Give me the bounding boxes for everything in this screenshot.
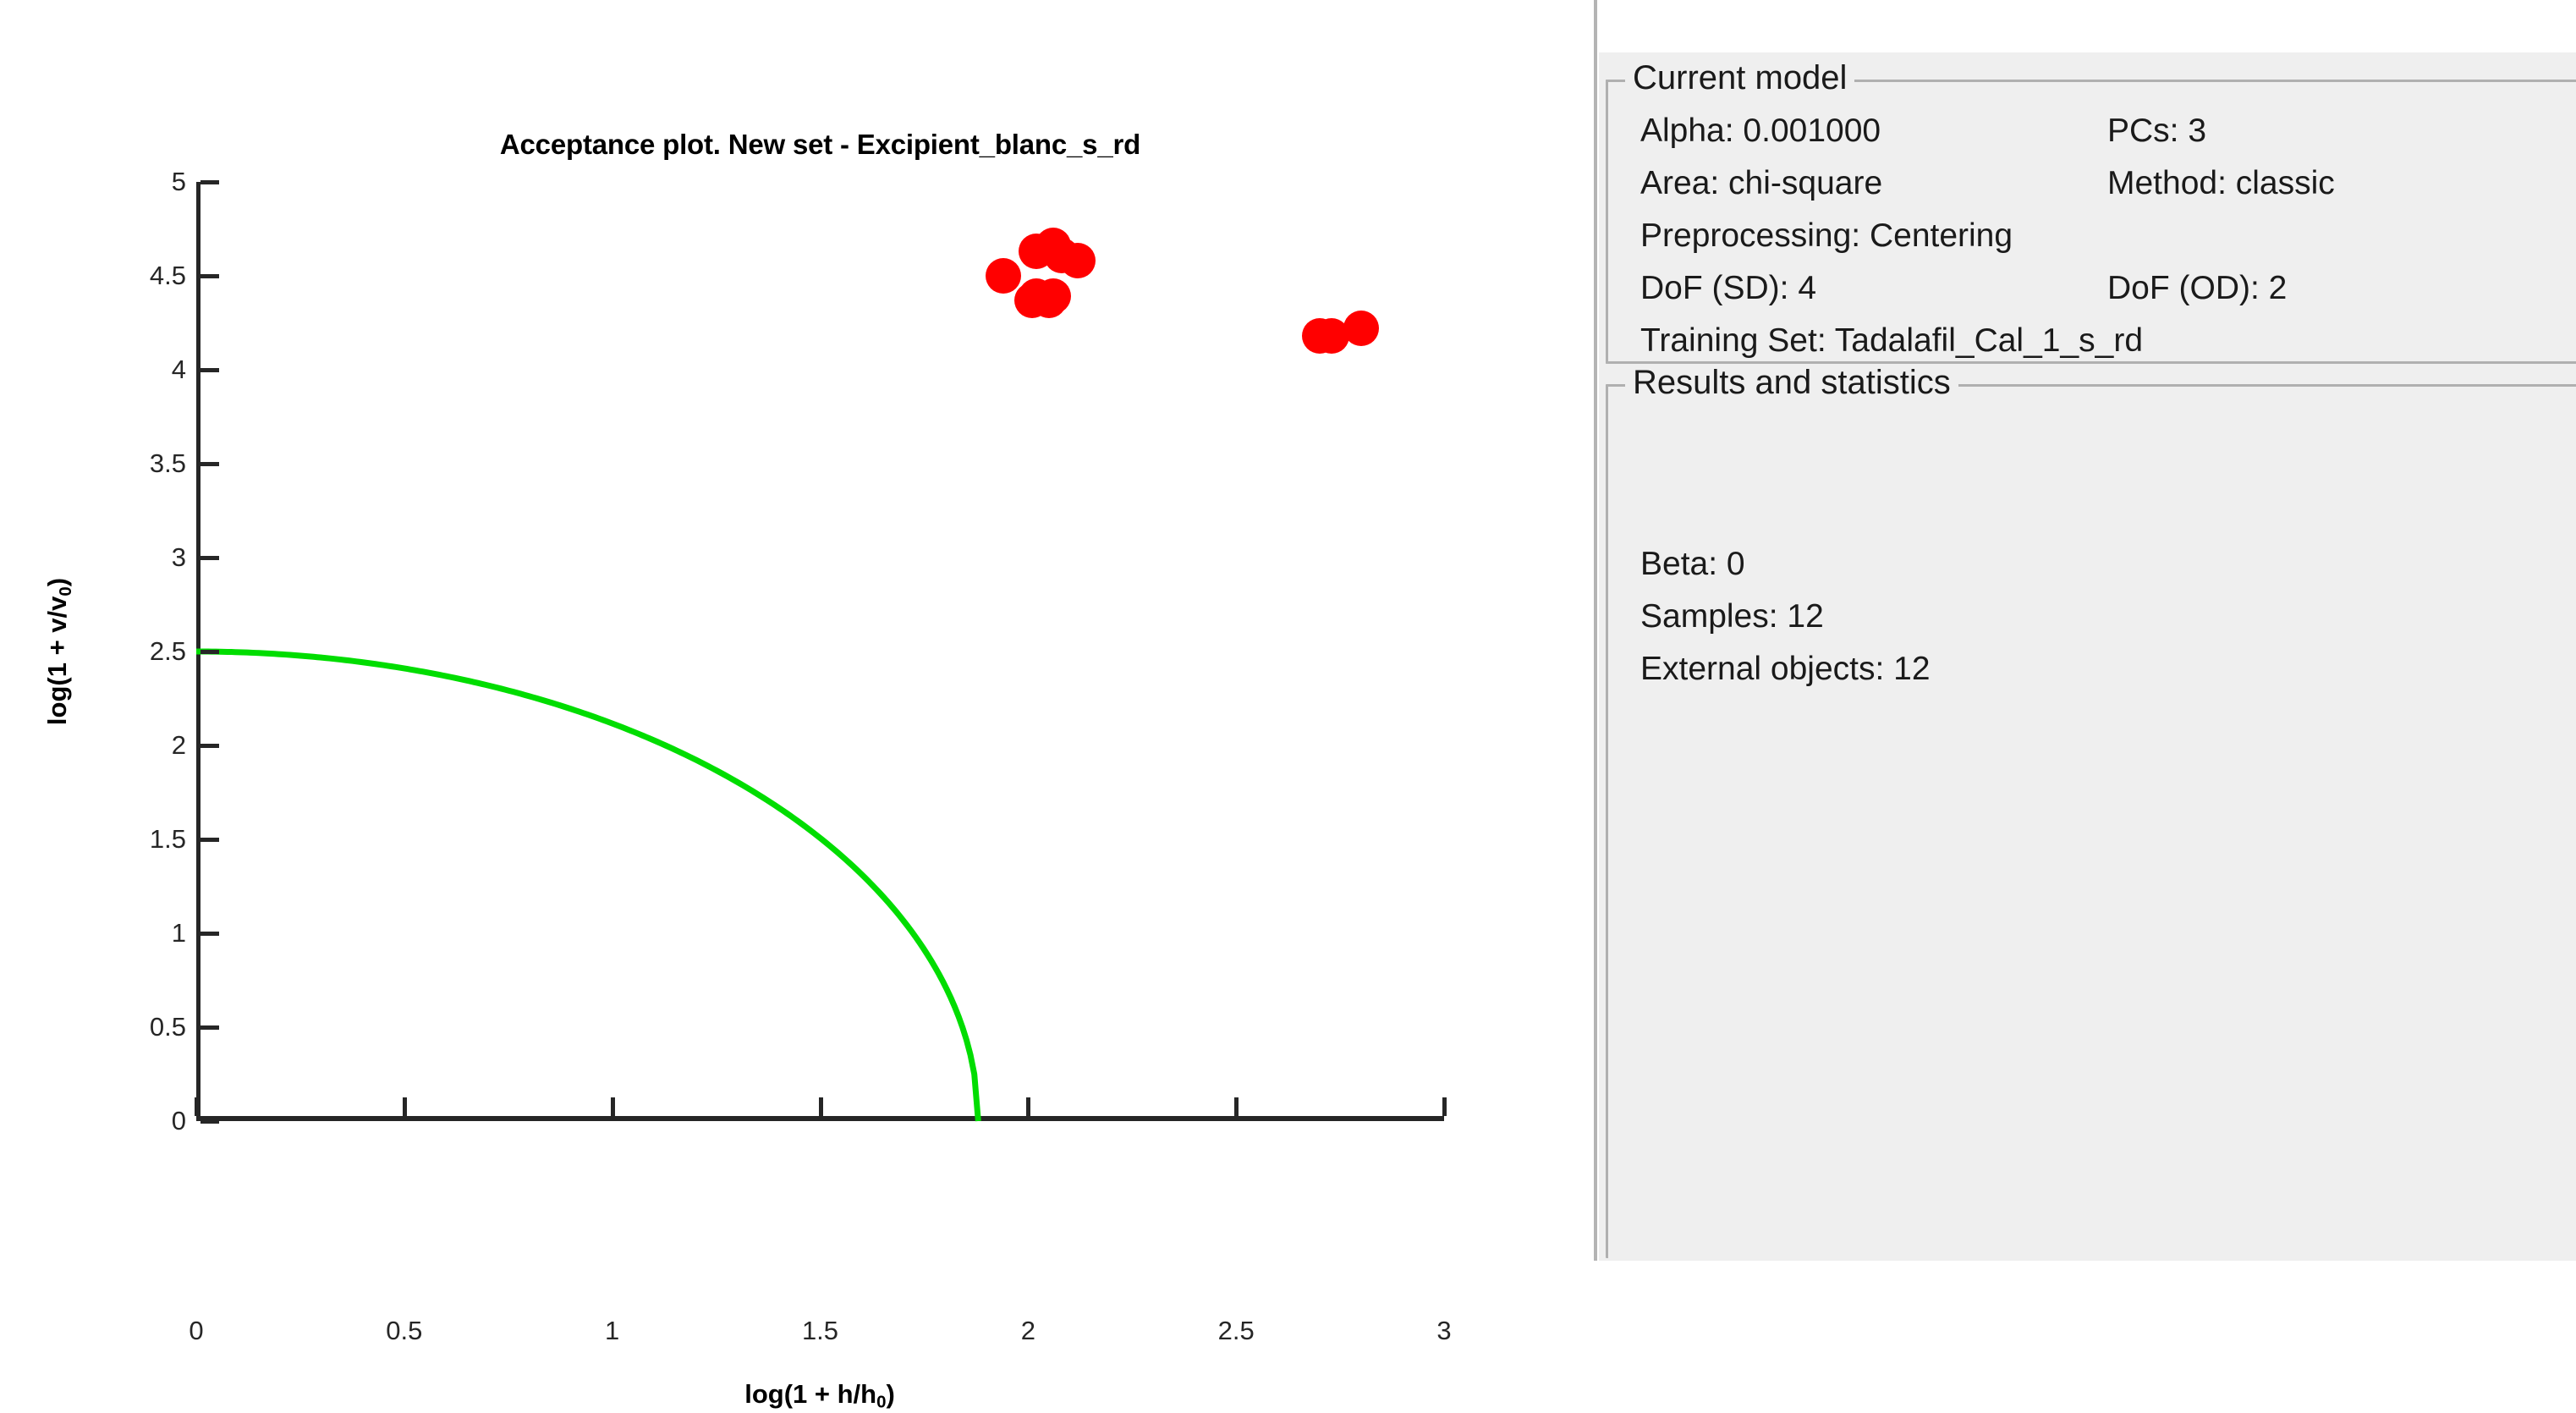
scatter-point: [1031, 283, 1067, 318]
y-tick: [200, 556, 219, 560]
x-tick-label: 2.5: [1218, 1316, 1255, 1346]
results-statistics-title: Results and statistics: [1625, 364, 1958, 402]
results-statistics-groupbox: Results and statistics Beta: 0Samples: 1…: [1606, 384, 2576, 1258]
page-title: Acceptance plot. New set - Excipient_bla…: [196, 129, 1444, 161]
x-tick-label: 1.5: [802, 1316, 838, 1346]
x-tick: [1234, 1097, 1239, 1116]
info-side-panel: Current model Alpha: 0.001000PCs: 3Area:…: [1599, 52, 2576, 1261]
current-model-title: Current model: [1625, 59, 1854, 97]
model-field-left: Preprocessing: Centering: [1640, 217, 2013, 255]
scatter-point: [1060, 243, 1096, 278]
x-tick-label: 0: [189, 1316, 203, 1346]
y-tick-label: 2: [172, 730, 186, 761]
acceptance-boundary-curve: [196, 182, 1444, 1121]
x-axis-label: log(1 + h/h0): [744, 1379, 895, 1413]
x-tick: [1442, 1097, 1447, 1116]
y-tick-label: 1: [172, 918, 186, 948]
model-field-right: DoF (OD): 2: [2107, 270, 2287, 307]
y-tick-label: 3: [172, 542, 186, 573]
x-tick: [819, 1097, 823, 1116]
y-tick: [200, 1025, 219, 1030]
scatter-point: [1343, 311, 1379, 346]
x-tick-label: 2: [1021, 1316, 1035, 1346]
y-tick-label: 2.5: [150, 636, 186, 667]
model-field-right: PCs: 3: [2107, 113, 2206, 150]
model-field-left: Alpha: 0.001000: [1640, 113, 1881, 150]
y-tick: [200, 838, 219, 842]
y-tick: [200, 932, 219, 936]
model-field-left: DoF (SD): 4: [1640, 270, 1816, 307]
x-tick: [403, 1097, 407, 1116]
y-tick-label: 1.5: [150, 824, 186, 855]
y-tick: [200, 462, 219, 466]
x-tick-label: 0.5: [386, 1316, 422, 1346]
y-tick: [200, 1119, 219, 1124]
y-tick-label: 3.5: [150, 448, 186, 479]
y-tick: [200, 744, 219, 748]
x-tick: [611, 1097, 615, 1116]
scatter-point: [986, 258, 1021, 294]
acceptance-plot-panel: Acceptance plot. New set - Excipient_bla…: [0, 0, 1590, 1305]
y-tick: [200, 274, 219, 278]
model-field-left: Area: chi-square: [1640, 165, 1882, 202]
x-tick: [1026, 1097, 1030, 1116]
result-field: Samples: 12: [1640, 598, 1824, 635]
x-tick-label: 1: [605, 1316, 619, 1346]
model-field-left: Training Set: Tadalafil_Cal_1_s_rd: [1640, 322, 2143, 360]
result-field: External objects: 12: [1640, 651, 1931, 688]
y-tick-label: 0: [172, 1106, 186, 1136]
y-tick-label: 4: [172, 355, 186, 385]
y-tick-label: 4.5: [150, 261, 186, 291]
y-tick: [200, 180, 219, 184]
current-model-groupbox: Current model Alpha: 0.001000PCs: 3Area:…: [1606, 80, 2576, 364]
model-field-right: Method: classic: [2107, 165, 2335, 202]
panel-divider: [1594, 0, 1597, 1261]
result-field: Beta: 0: [1640, 546, 1745, 583]
y-axis-label: log(1 + v/v0): [42, 578, 76, 725]
y-tick: [200, 650, 219, 654]
plot-axes: 00.511.522.533.544.55 00.511.522.53 log(…: [196, 182, 1444, 1121]
y-tick-label: 5: [172, 167, 186, 197]
x-tick: [195, 1097, 199, 1116]
x-tick-label: 3: [1436, 1316, 1451, 1346]
y-tick: [200, 368, 219, 372]
y-tick-label: 0.5: [150, 1012, 186, 1042]
